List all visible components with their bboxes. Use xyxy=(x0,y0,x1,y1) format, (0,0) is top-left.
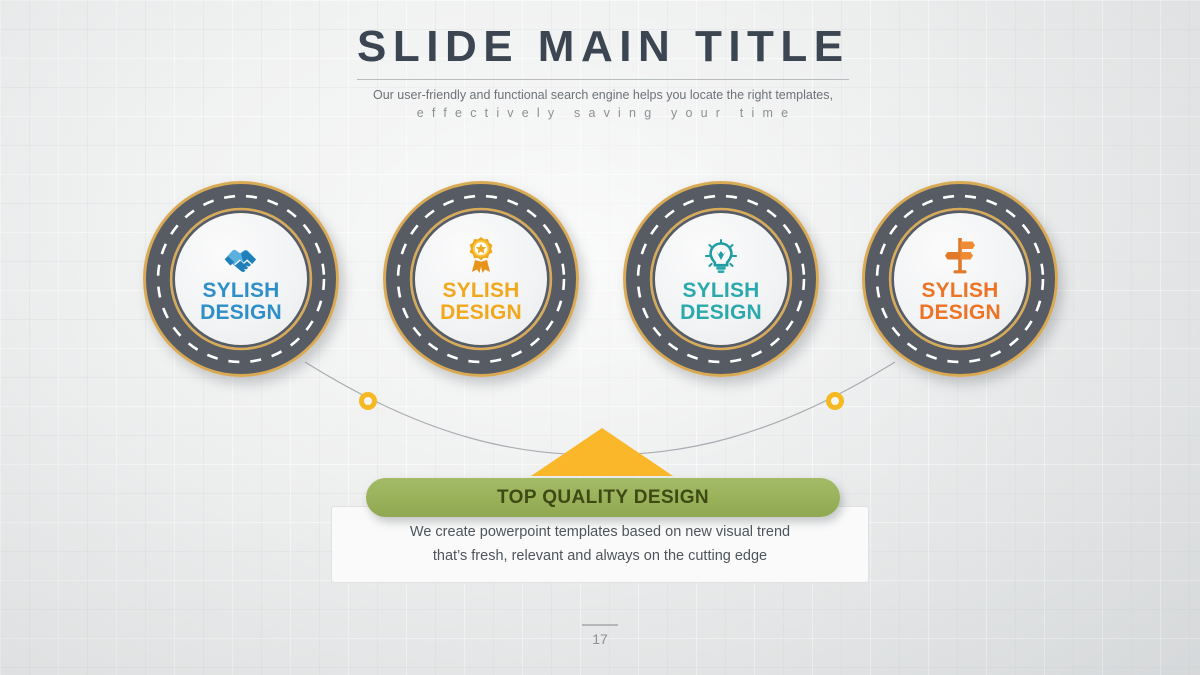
circle-inner-2: SYLISH DESIGN xyxy=(415,213,547,345)
circle-label-3-line1: SYLISH xyxy=(680,280,762,302)
circle-item-1[interactable]: SYLISH DESIGN xyxy=(143,181,339,377)
circle-inner-1: SYLISH DESIGN xyxy=(175,213,307,345)
circle-label-3-line2: DESIGN xyxy=(680,302,762,324)
description-line-1: We create powerpoint templates based on … xyxy=(410,521,790,544)
slide-footer: 17 xyxy=(560,624,640,647)
circle-label-2-line1: SYLISH xyxy=(440,280,522,302)
circle-item-2[interactable]: SYLISH DESIGN xyxy=(383,181,579,377)
lightbulb-icon xyxy=(702,234,740,276)
circle-label-2-line2: DESIGN xyxy=(440,302,522,324)
description-text: We create powerpoint templates based on … xyxy=(410,521,790,568)
circle-label-1: SYLISH DESIGN xyxy=(200,280,282,325)
description-box: We create powerpoint templates based on … xyxy=(331,506,869,583)
handshake-icon xyxy=(222,234,260,276)
circle-inner-4: SYLISH DESIGN xyxy=(894,213,1026,345)
circle-label-4-line1: SYLISH xyxy=(919,280,1001,302)
circle-item-3[interactable]: SYLISH DESIGN xyxy=(623,181,819,377)
circle-label-2: SYLISH DESIGN xyxy=(440,280,522,325)
footer-divider xyxy=(582,624,618,626)
top-quality-banner[interactable]: TOP QUALITY DESIGN xyxy=(366,478,840,517)
circle-label-4: SYLISH DESIGN xyxy=(919,280,1001,325)
pointer-arrow-icon xyxy=(531,428,673,476)
circle-inner-3: SYLISH DESIGN xyxy=(655,213,787,345)
circle-label-1-line1: SYLISH xyxy=(200,280,282,302)
description-line-2: that’s fresh, relevant and always on the… xyxy=(410,545,790,568)
signpost-icon xyxy=(943,234,977,276)
slide-canvas: SLIDE MAIN TITLE Our user-friendly and f… xyxy=(0,0,1200,675)
award-ribbon-icon xyxy=(464,234,498,276)
circle-label-4-line2: DESIGN xyxy=(919,302,1001,324)
circle-item-4[interactable]: SYLISH DESIGN xyxy=(862,181,1058,377)
circle-label-3: SYLISH DESIGN xyxy=(680,280,762,325)
circle-label-1-line2: DESIGN xyxy=(200,302,282,324)
page-number: 17 xyxy=(560,631,640,647)
top-quality-banner-label: TOP QUALITY DESIGN xyxy=(497,487,709,509)
